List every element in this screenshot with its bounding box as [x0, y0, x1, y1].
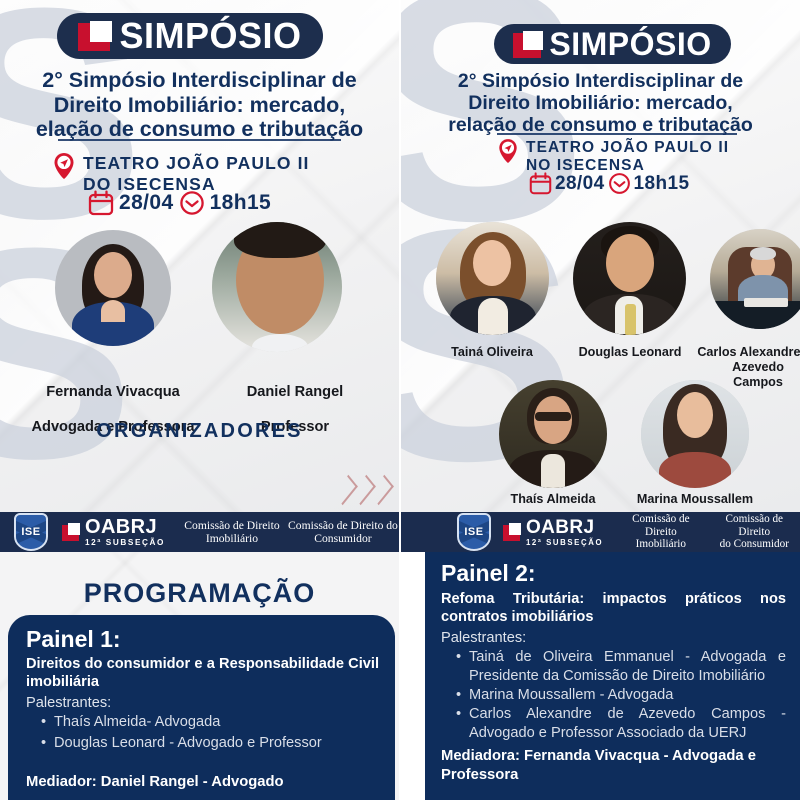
organizer-2-name: Daniel Rangel [200, 384, 390, 402]
organizer-photo-1 [55, 230, 171, 346]
oab-text: OABRJ 12ª SUBSEÇÃO [85, 517, 165, 547]
poster-left: S S SIMPÓSIO 2° Simpósio Interdisciplina… [0, 0, 399, 552]
photo-hair [750, 247, 776, 260]
logo-text: SIMPÓSIO [119, 15, 301, 57]
organizer-photo-2 [212, 222, 342, 352]
poster-right-footer: ISE OABRJ 12ª SUBSEÇÃO Comissão de Direi… [401, 512, 800, 552]
speaker-name-4: Thaís Almeida [493, 492, 613, 507]
crest-text: ISE [21, 526, 40, 538]
logo-text: SIMPÓSIO [549, 26, 711, 63]
crest-text: ISE [464, 526, 483, 538]
painel-2-topic: Refoma Tributária: impactos práticos nos… [441, 590, 786, 627]
venue-block: TEATRO JOÃO PAULO II DO ISECENSA [52, 152, 352, 194]
painel-2-label: Painel 2: [441, 560, 800, 587]
oabrj-logo: OABRJ 12ª SUBSEÇÃO [62, 517, 165, 547]
venue-text: TEATRO JOÃO PAULO II DO ISECENSA [83, 152, 310, 194]
photo-paper [744, 298, 788, 307]
painel-2-speakers-list: Tainá de Oliveira Emmanuel - Advogada e … [469, 648, 786, 743]
list-item: Marina Moussallem - Advogada [469, 686, 786, 705]
date-text: 28/04 [119, 191, 174, 215]
speaker-photo-1 [436, 222, 549, 335]
divider [58, 139, 341, 141]
painel-1-label: Painel 1: [26, 626, 395, 653]
photo-shirt [541, 454, 565, 488]
speaker-photo-4 [499, 380, 607, 488]
painel-1-speakers-list: Thaís Almeida- Advogada Douglas Leonard … [54, 713, 395, 753]
photo-head [677, 392, 713, 438]
oabrj-logo: OABRJ 12ª SUBSEÇÃO [503, 518, 603, 547]
poster-headline: 2° Simpósio Interdisciplinar de Direito … [0, 68, 399, 142]
logo-mark-icon [78, 21, 112, 51]
date-text: 28/04 [555, 173, 605, 195]
program-title: PROGRAMAÇÃO [0, 578, 399, 609]
list-item: Douglas Leonard - Advogado e Professor [54, 734, 395, 753]
datetime-block: 28/04 18h15 [529, 172, 689, 195]
speaker-photo-3 [710, 229, 800, 329]
clock-icon [608, 172, 631, 195]
oab-name: OABRJ [85, 517, 165, 537]
speaker-name-1: Tainá Oliveira [431, 345, 553, 360]
commission-2: Comissão de Direito do Consumidor [287, 519, 399, 546]
photo-shirt [101, 300, 125, 322]
speaker-photo-2 [573, 222, 686, 335]
program-right-panel: Painel 2: Refoma Tributária: impactos pr… [399, 552, 800, 800]
program-left-panel: PROGRAMAÇÃO Painel 1: Direitos do consum… [0, 552, 399, 800]
calendar-icon [88, 190, 114, 216]
painel-1-card: Painel 1: Direitos do consumidor e a Res… [8, 615, 395, 800]
section-label-organizadores: ORGANIZADORES [0, 420, 399, 443]
chevron-decoration [338, 478, 389, 502]
photo-head [94, 252, 132, 298]
isecensa-crest-icon: ISE [457, 513, 491, 551]
poster-right: S S SIMPÓSIO 2° Simpósio Interdisciplina… [401, 0, 800, 552]
location-pin-icon [52, 152, 76, 180]
commission-1: Comissão de Direito Imobiliário [615, 513, 706, 552]
simposio-logo: SIMPÓSIO [57, 13, 323, 59]
clock-icon [179, 190, 205, 216]
painel-2-mediator: Mediadora: Fernanda Vivacqua - Advogada … [441, 747, 786, 785]
speaker-name-5: Marina Moussallem [629, 492, 761, 507]
simposio-logo: SIMPÓSIO [494, 24, 731, 64]
photo-torso [659, 452, 731, 488]
time-text: 18h15 [634, 173, 690, 195]
poster-collage: S S SIMPÓSIO 2° Simpósio Interdisciplina… [0, 0, 800, 800]
oab-sub: 12ª SUBSEÇÃO [526, 539, 603, 547]
oab-mark-icon [62, 523, 80, 541]
poster-headline: 2° Simpósio Interdisciplinar de Direito … [401, 70, 800, 137]
calendar-icon [529, 172, 552, 195]
oab-mark-icon [503, 523, 521, 541]
photo-head [473, 240, 511, 286]
speaker-photo-5 [641, 380, 749, 488]
list-item: Thaís Almeida- Advogada [54, 713, 395, 732]
list-item: Tainá de Oliveira Emmanuel - Advogada e … [469, 648, 786, 686]
venue-text: TEATRO JOÃO PAULO II NO ISECENSA [526, 138, 729, 176]
location-pin-icon [497, 138, 519, 164]
commission-1: Comissão de Direito Imobiliário [181, 519, 283, 546]
poster-left-footer: ISE OABRJ 12ª SUBSEÇÃO Comissão de Direi… [0, 512, 399, 552]
painel-2-card: Painel 2: Refoma Tributária: impactos pr… [425, 552, 800, 800]
painel-1-topic: Direitos do consumidor e a Responsabilid… [26, 655, 379, 692]
painel-2-speakers-label: Palestrantes: [441, 630, 800, 646]
organizer-1-name: Fernanda Vivacqua [8, 384, 218, 402]
oab-text: OABRJ 12ª SUBSEÇÃO [526, 518, 603, 547]
logo-mark-icon [513, 31, 543, 58]
time-text: 18h15 [210, 191, 272, 215]
list-item: Carlos Alexandre de Azevedo Campos - Adv… [469, 705, 786, 743]
photo-tie [625, 304, 636, 335]
photo-hair [234, 222, 326, 258]
venue-block: TEATRO JOÃO PAULO II NO ISECENSA [497, 138, 797, 176]
photo-head [606, 234, 654, 292]
photo-glasses [535, 412, 571, 421]
divider [497, 133, 737, 135]
photo-shirt [478, 298, 508, 335]
commission-2: Comissão de Direito do Consumidor [709, 513, 800, 552]
oab-sub: 12ª SUBSEÇÃO [85, 539, 165, 547]
isecensa-crest-icon: ISE [14, 513, 48, 551]
painel-1-speakers-label: Palestrantes: [26, 695, 395, 711]
oab-name: OABRJ [526, 518, 603, 537]
painel-1-mediator: Mediador: Daniel Rangel - Advogado [26, 773, 379, 792]
datetime-block: 28/04 18h15 [88, 190, 271, 216]
